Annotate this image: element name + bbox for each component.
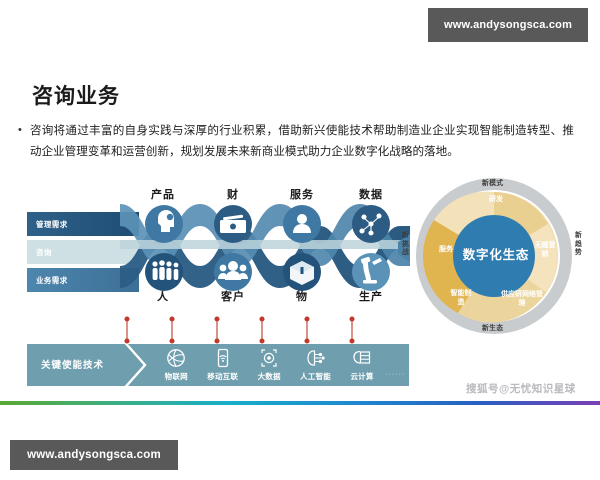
gradient-divider bbox=[0, 401, 600, 405]
ecosystem-ring-label-top: 新模式 bbox=[482, 177, 503, 187]
connector-arrow-4 bbox=[260, 317, 264, 343]
chevron-right-icon bbox=[115, 344, 155, 386]
tech-item-cloud-label: 云计算 bbox=[339, 371, 385, 382]
wave-top-label-2: 财 bbox=[203, 186, 263, 202]
ecosystem-segment-label-manufacturing: 智能制造 bbox=[448, 290, 474, 307]
key-tech-band-label: 关键使能技术 bbox=[41, 357, 104, 371]
demand-bar-consulting-label: 咨询 bbox=[36, 247, 52, 258]
watermark-bottom-text: www.andysongsca.com bbox=[27, 449, 161, 461]
wave-top-label-1: 产品 bbox=[133, 186, 193, 202]
page-title: 咨询业务 bbox=[32, 80, 120, 110]
connector-arrows bbox=[118, 316, 403, 346]
wave-bottom-label-2: 客户 bbox=[203, 288, 263, 304]
ecosystem-segment-label-rd: 研发 bbox=[476, 196, 516, 205]
ecosystem-ring-label-bottom: 新生态 bbox=[482, 322, 503, 332]
ai-brain-icon bbox=[292, 346, 338, 370]
tech-item-bigdata[interactable]: 大数据 bbox=[246, 346, 292, 382]
ecosystem-segment-label-service: 服务 bbox=[434, 246, 458, 255]
wave-bottom-label-4: 生产 bbox=[341, 288, 401, 304]
tech-item-mobile-label: 移动互联 bbox=[199, 371, 245, 382]
big-data-icon bbox=[246, 346, 292, 370]
digital-ecosystem-circle: 数字化生态 研发 服务 无缝营销 智能制造 供应研网络管理 新模式 新生态 新挑… bbox=[398, 174, 588, 339]
tech-item-iot[interactable]: 物联网 bbox=[153, 346, 199, 382]
mobile-wifi-icon bbox=[199, 346, 245, 370]
tech-item-ai[interactable]: 人工智能 bbox=[292, 346, 338, 382]
key-tech-band: 关键使能技术 物联网 bbox=[27, 344, 409, 386]
tech-item-bigdata-label: 大数据 bbox=[246, 371, 292, 382]
watermark-top-text: www.andysongsca.com bbox=[444, 19, 572, 31]
wave-top-label-4: 数据 bbox=[341, 186, 401, 202]
tech-item-ai-label: 人工智能 bbox=[292, 371, 338, 382]
money-cash-icon bbox=[220, 215, 246, 233]
cloud-server-icon bbox=[339, 346, 385, 370]
connector-arrow-1 bbox=[125, 317, 129, 343]
ecosystem-ring-label-left: 新挑战 bbox=[401, 232, 410, 258]
demand-bar-management-label: 管理需求 bbox=[36, 219, 68, 230]
ecosystem-center-label: 数字化生态 bbox=[450, 244, 542, 263]
body-paragraph: • 咨询将通过丰富的自身实践与深厚的行业积累，借助新兴使能技术帮助制造业企业实现… bbox=[18, 120, 574, 162]
iot-globe-icon bbox=[153, 346, 199, 370]
ecosystem-ring-label-right: 新趋势 bbox=[574, 232, 583, 258]
connector-arrow-2 bbox=[170, 317, 174, 343]
connector-arrow-3 bbox=[215, 317, 219, 343]
tech-item-iot-label: 物联网 bbox=[153, 371, 199, 382]
ecosystem-segment-label-supply: 供应研网络管理 bbox=[499, 291, 545, 308]
wave-top-label-3: 服务 bbox=[272, 186, 332, 202]
ecosystem-segment-label-marketing: 无缝营销 bbox=[534, 242, 556, 259]
watermark-top: www.andysongsca.com bbox=[428, 8, 588, 42]
key-tech-items: 物联网 移动互联 bbox=[153, 346, 409, 386]
connector-arrow-5 bbox=[305, 317, 309, 343]
bullet-marker: • bbox=[18, 120, 22, 140]
wave-bottom-label-3: 物 bbox=[272, 288, 332, 304]
tech-item-cloud[interactable]: 云计算 bbox=[339, 346, 385, 382]
paragraph-text: 咨询将通过丰富的自身实践与深厚的行业积累，借助新兴使能技术帮助制造业企业实现智能… bbox=[30, 120, 574, 162]
watermark-bottom: www.andysongsca.com bbox=[10, 440, 178, 470]
connector-arrow-6 bbox=[350, 317, 354, 343]
watermark-sohu: 搜狐号@无忧知识星球 bbox=[466, 381, 576, 396]
tech-items-ellipsis: ······ bbox=[385, 371, 409, 378]
demand-bar-business-label: 业务需求 bbox=[36, 275, 68, 286]
consulting-diagram: 管理需求 咨询 业务需求 bbox=[0, 176, 600, 401]
wave-node-bottom-4 bbox=[352, 253, 390, 291]
slide-canvas: www.andysongsca.com 咨询业务 • 咨询将通过丰富的自身实践与… bbox=[0, 0, 600, 480]
tech-item-mobile[interactable]: 移动互联 bbox=[199, 346, 245, 382]
wave-bottom-label-1: 人 bbox=[133, 288, 193, 304]
